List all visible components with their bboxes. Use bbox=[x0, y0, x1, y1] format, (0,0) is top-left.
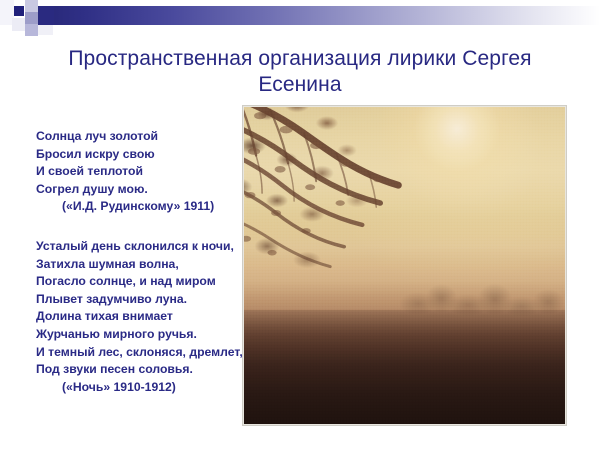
pixel-dark-square bbox=[14, 6, 24, 16]
title-line-1: Пространственная организация лирики Серг… bbox=[68, 47, 531, 70]
pixel-light-2 bbox=[12, 18, 25, 31]
poem-line: Под звуки песен соловья. bbox=[36, 361, 268, 379]
pixel-mid-2 bbox=[25, 12, 38, 24]
page-title: Пространственная организация лирики Серг… bbox=[22, 46, 578, 98]
pixel-mid-1 bbox=[25, 0, 38, 12]
presentation-slide: Пространственная организация лирики Серг… bbox=[0, 0, 600, 450]
landscape-photo bbox=[244, 107, 565, 424]
pixel-mid-3 bbox=[25, 24, 38, 36]
poem-text-block: Солнца луч золотой Бросил искру свою И с… bbox=[36, 128, 268, 396]
pixel-dark-block bbox=[38, 6, 54, 25]
poem-citation: («Ночь» 1910-1912) bbox=[36, 379, 268, 397]
poem-line: Усталый день склонился к ночи, bbox=[36, 238, 268, 256]
poem-line: Плывет задумчиво луна. bbox=[36, 291, 268, 309]
title-line-2: Есенина bbox=[258, 73, 341, 96]
poem-line: Затихла шумная волна, bbox=[36, 256, 268, 274]
poem-line: И темный лес, склоняся, дремлет, bbox=[36, 344, 268, 362]
poem-line: Журчанью мирного ручья. bbox=[36, 326, 268, 344]
poem-citation: («И.Д. Рудинскому» 1911) bbox=[36, 198, 268, 216]
poem-rudinskomu: Солнца луч золотой Бросил искру свою И с… bbox=[36, 128, 268, 216]
poem-noch: Усталый день склонился к ночи, Затихла ш… bbox=[36, 238, 268, 396]
poem-line: Долина тихая внимает bbox=[36, 308, 268, 326]
photo-frame bbox=[243, 106, 566, 425]
photo-film-grain bbox=[244, 107, 565, 424]
slide-header-decoration bbox=[0, 0, 600, 32]
header-gradient-bar bbox=[38, 6, 600, 25]
poem-line: Бросил искру свою bbox=[36, 146, 268, 164]
poem-line: Солнца луч золотой bbox=[36, 128, 268, 146]
pixel-light-3 bbox=[38, 25, 53, 35]
pixel-light-1 bbox=[0, 0, 14, 25]
poem-line: Погасло солнце, и над миром bbox=[36, 273, 268, 291]
poem-line: И своей теплотой bbox=[36, 163, 268, 181]
poem-line: Согрел душу мою. bbox=[36, 181, 268, 199]
